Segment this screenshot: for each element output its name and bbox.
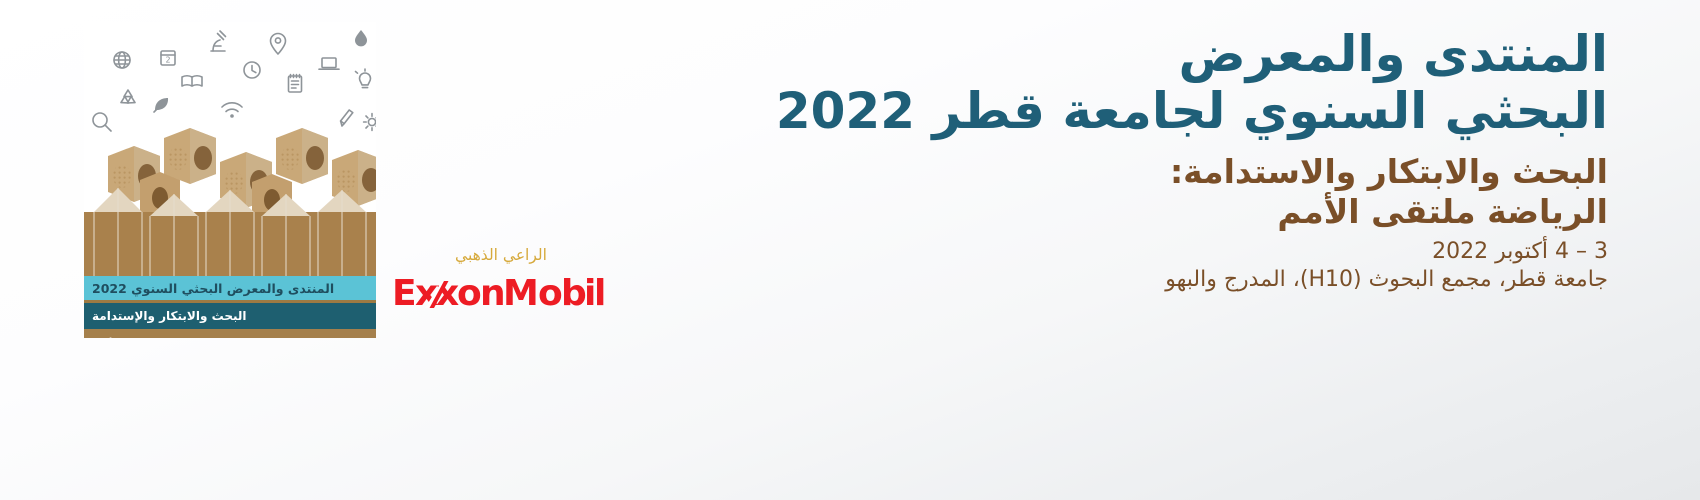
microscope-icon xyxy=(211,31,226,51)
poster-band-title-text: المنتدى والمعرض البحثي السنوي 2022 xyxy=(92,281,334,296)
poster-band-tagline: الرياضة ملتقى الأمم xyxy=(84,329,376,338)
event-subtitle-line-2: الرياضة ملتقى الأمم xyxy=(688,192,1608,232)
exxonmobil-logo[interactable]: E x x o n M o b i l xyxy=(392,273,610,315)
event-subtitle: البحث والابتكار والاستدامة: الرياضة ملتق… xyxy=(688,152,1608,231)
poster-crowd-figures xyxy=(84,112,376,292)
lightbulb-icon xyxy=(356,69,371,88)
water-drop-icon xyxy=(355,30,367,46)
svg-text:M: M xyxy=(503,273,538,314)
svg-text:E: E xyxy=(392,273,416,314)
globe-icon xyxy=(114,52,130,68)
svg-text:b: b xyxy=(561,273,586,314)
sponsor-label: الراعي الذهبي xyxy=(378,246,624,265)
leaf-icon xyxy=(154,98,168,112)
event-venue: جامعة قطر، مجمع البحوث (H10)، المدرج وال… xyxy=(688,266,1608,295)
poster-band-theme: البحث والابتكار والإستدامة xyxy=(84,303,376,329)
event-date: 3 – 4 أكتوبر 2022 xyxy=(688,238,1608,266)
event-title-line-2: البحثي السنوي لجامعة قطر 2022 xyxy=(688,83,1608,140)
clipboard-icon xyxy=(289,75,302,93)
headline-block: المنتدى والمعرض البحثي السنوي لجامعة قطر… xyxy=(688,26,1608,294)
location-pin-icon xyxy=(271,34,286,55)
poster-band-title: المنتدى والمعرض البحثي السنوي 2022 xyxy=(84,276,376,300)
calendar-icon: 2 xyxy=(161,51,175,65)
event-banner: 2 xyxy=(0,0,1700,500)
recycle-icon xyxy=(121,90,135,103)
svg-text:o: o xyxy=(457,273,481,314)
book-icon xyxy=(182,76,202,86)
poster-band-tagline-text: الرياضة ملتقى الأمم xyxy=(92,338,212,339)
laptop-icon xyxy=(319,58,339,69)
clock-icon xyxy=(244,62,260,78)
svg-text:o: o xyxy=(538,273,562,314)
svg-text:2: 2 xyxy=(165,56,170,65)
svg-text:l: l xyxy=(594,273,605,314)
event-poster-thumbnail[interactable]: 2 xyxy=(84,22,376,338)
sponsor-block: الراعي الذهبي E x x o n M o b i l xyxy=(378,246,624,315)
event-title-line-1: المنتدى والمعرض xyxy=(688,26,1608,83)
poster-band-theme-text: البحث والابتكار والإستدامة xyxy=(92,309,247,323)
event-subtitle-line-1: البحث والابتكار والاستدامة: xyxy=(688,152,1608,192)
svg-text:n: n xyxy=(480,273,505,314)
